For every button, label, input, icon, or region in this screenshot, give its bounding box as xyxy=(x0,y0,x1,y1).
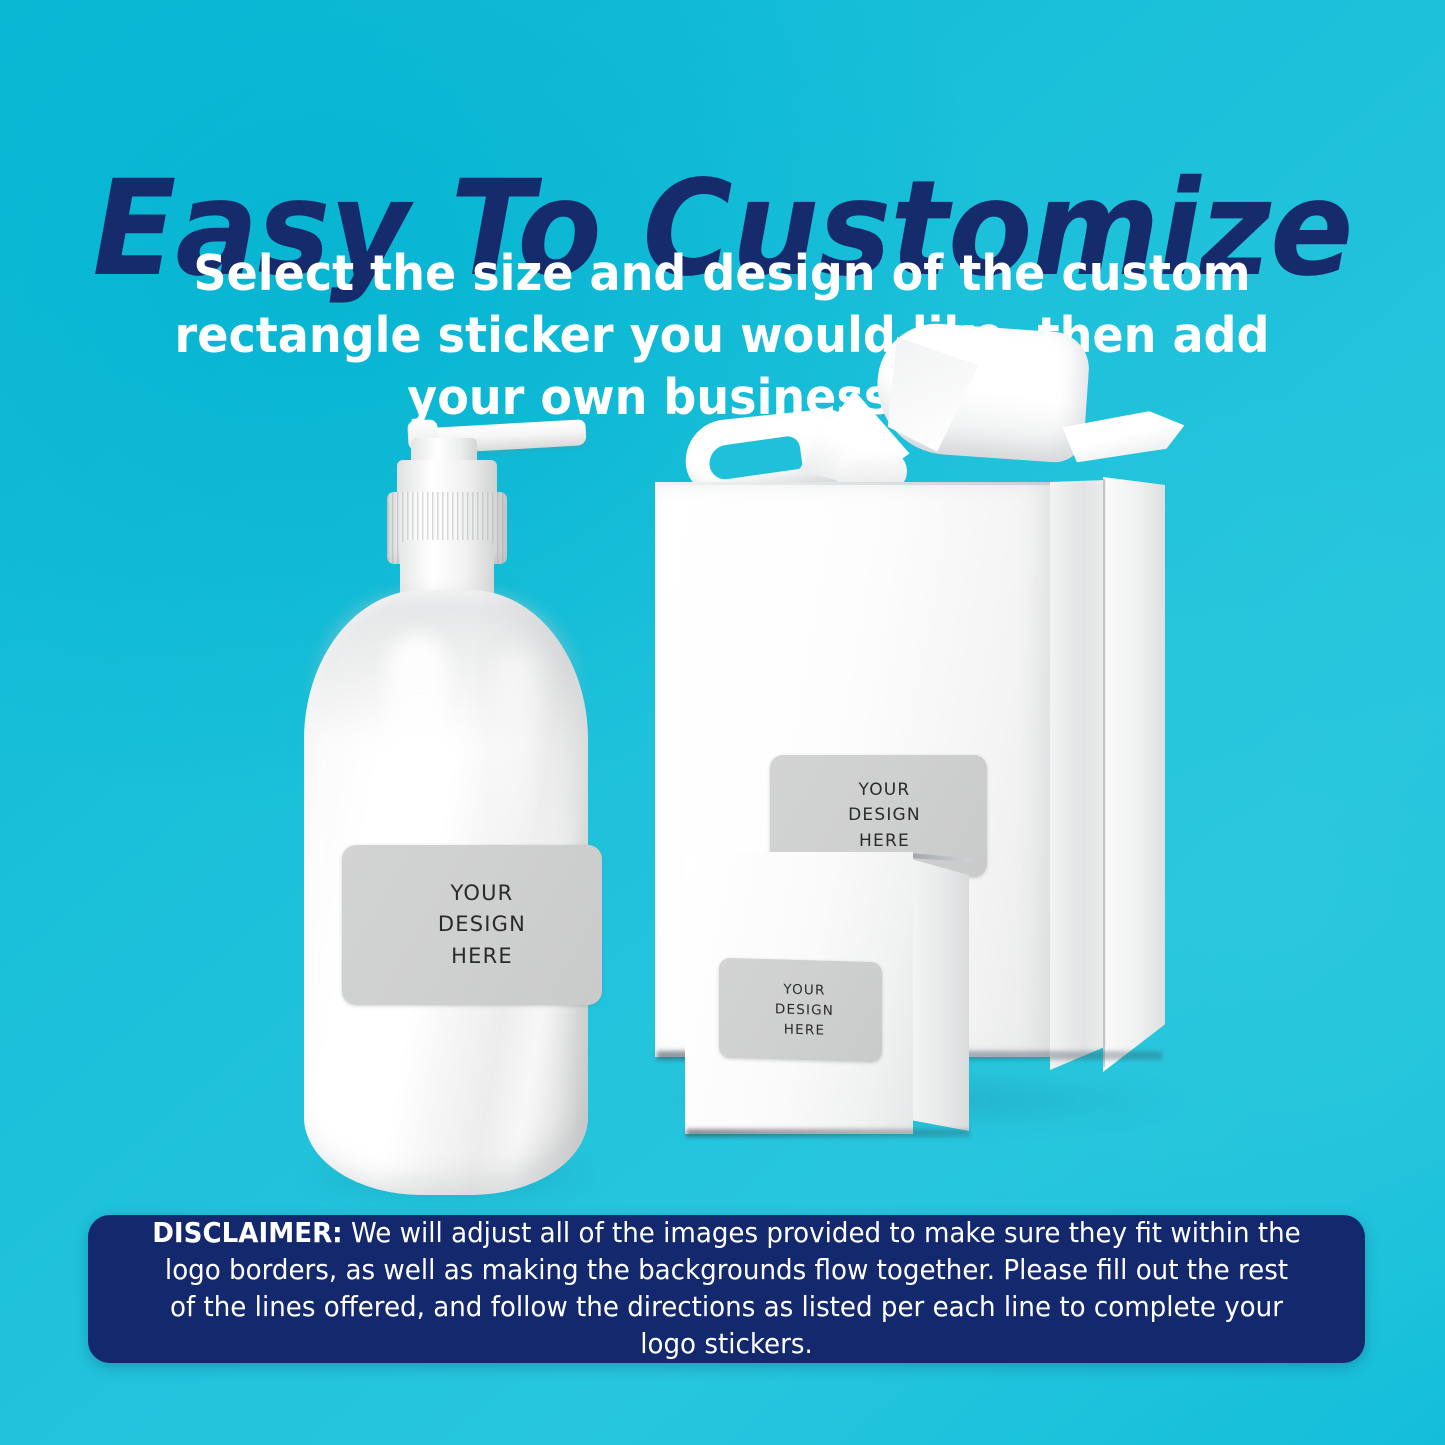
disclaimer-banner: DISCLAIMER: We will adjust all of the im… xyxy=(88,1215,1365,1363)
disclaimer-text: DISCLAIMER: We will adjust all of the im… xyxy=(120,1215,1333,1362)
small-box: YOUR DESIGN HERE xyxy=(685,845,985,1145)
pump-bottle: YOUR DESIGN HERE xyxy=(296,420,596,1200)
sticker-line-1: YOUR xyxy=(783,979,825,1000)
sticker-line-1: YOUR xyxy=(859,778,911,804)
small-box-contact-shadow xyxy=(686,1129,970,1137)
disclaimer-prefix: DISCLAIMER: xyxy=(152,1217,342,1249)
small-box-side-panel xyxy=(911,859,969,1131)
sticker-line-2: DESIGN xyxy=(775,999,834,1021)
promo-banner: Easy To Customize Select the size and de… xyxy=(0,0,1445,1445)
sticker-line-1: YOUR xyxy=(451,878,514,909)
sticker-label-bottle[interactable]: YOUR DESIGN HERE xyxy=(342,845,602,1005)
gift-box-lid-line xyxy=(655,482,1050,485)
gift-box-side-panel xyxy=(1050,480,1106,1070)
sticker-label-small-box[interactable]: YOUR DESIGN HERE xyxy=(719,958,882,1063)
gift-box-lid-seam xyxy=(1103,479,1105,1067)
sticker-line-3: HERE xyxy=(784,1020,825,1041)
small-box-top-edge xyxy=(909,853,971,862)
sticker-line-3: HERE xyxy=(451,941,513,972)
sticker-line-2: DESIGN xyxy=(848,803,921,829)
product-mockup-scene: YOUR DESIGN HERE YOUR DESIGN HERE xyxy=(0,380,1445,1210)
sticker-line-2: DESIGN xyxy=(438,909,526,940)
gift-box-back-side-panel xyxy=(1103,477,1165,1072)
